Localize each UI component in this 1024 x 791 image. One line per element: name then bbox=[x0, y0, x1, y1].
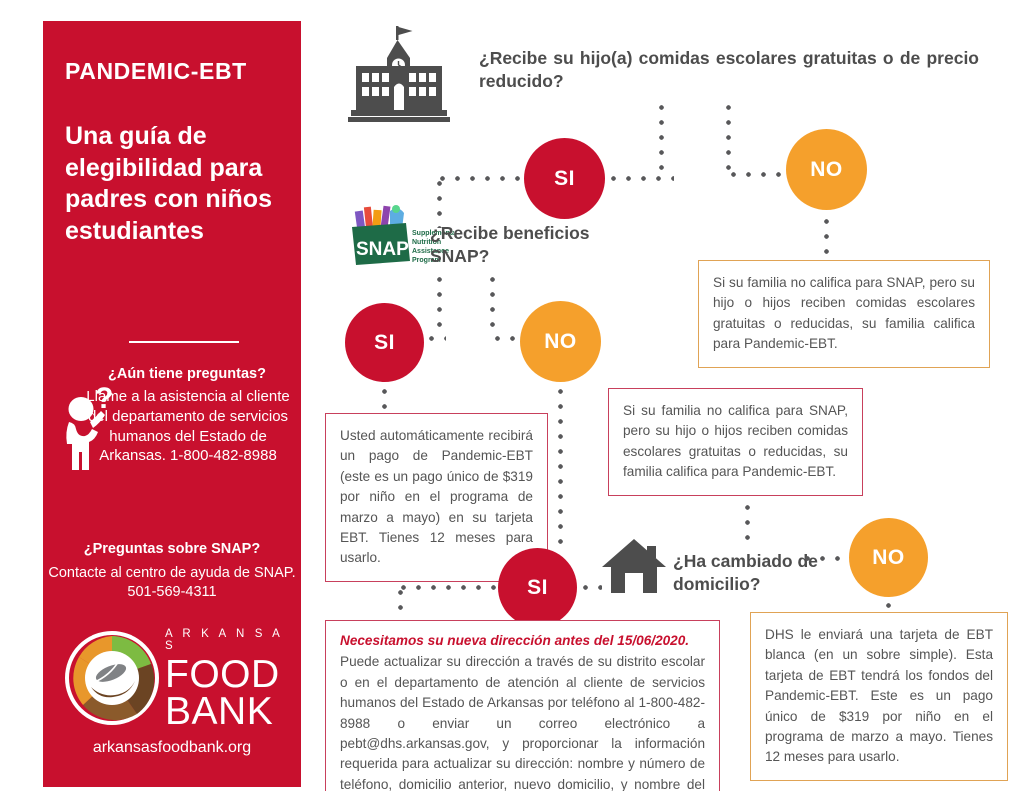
node-yes-question-1[interactable]: SI bbox=[524, 138, 605, 219]
connector-q2-right-down bbox=[490, 272, 495, 334]
node-no-question-1[interactable]: NO bbox=[786, 129, 867, 210]
question-2-text: ¿Recibe beneficios SNAP? bbox=[430, 222, 610, 268]
question-1-text: ¿Recibe su hijo(a) comidas escolares gra… bbox=[479, 47, 979, 93]
sidebar: PANDEMIC-EBT Una guía de elegibilidad pa… bbox=[43, 21, 301, 787]
school-building-icon bbox=[348, 24, 450, 124]
connector-yes2-to-box3 bbox=[382, 384, 387, 412]
connector-no3-to-box5 bbox=[886, 598, 891, 612]
questions-block: ? ¿Aún tiene preguntas? Llame a la asist… bbox=[43, 366, 301, 466]
arkansas-food-bank-logo: A R K A N S A S FOOD BANK bbox=[65, 621, 287, 741]
info-box-no-snap-qualifies-1: Si su familia no califica para SNAP, per… bbox=[698, 260, 990, 368]
node-yes-question-3[interactable]: SI bbox=[498, 548, 577, 627]
logo-food-text: FOOD bbox=[165, 656, 289, 693]
website-url[interactable]: arkansasfoodbank.org bbox=[43, 739, 301, 757]
node-no-question-2[interactable]: NO bbox=[520, 301, 601, 382]
connector-yes3-left-down bbox=[398, 585, 403, 619]
logo-bank-text: BANK bbox=[165, 693, 289, 730]
node-no-question-3[interactable]: NO bbox=[849, 518, 928, 597]
connector-to-yes2 bbox=[424, 336, 446, 341]
connector-q2-left-down bbox=[437, 272, 442, 334]
food-bank-wordmark: A R K A N S A S FOOD BANK bbox=[165, 629, 289, 731]
info-box-dhs-card: DHS le enviará una tarjeta de EBT blanca… bbox=[750, 612, 1008, 781]
infographic-page: PANDEMIC-EBT Una guía de elegibilidad pa… bbox=[0, 0, 1024, 791]
snap-questions-block: ¿Preguntas sobre SNAP? Contacte al centr… bbox=[43, 541, 301, 602]
connector-to-yes3 bbox=[396, 585, 500, 590]
page-subtitle: Una guía de elegibilidad para padres con… bbox=[65, 121, 280, 247]
svg-text:?: ? bbox=[95, 382, 113, 415]
page-title: PANDEMIC-EBT bbox=[65, 58, 295, 85]
node-yes-question-2[interactable]: SI bbox=[345, 303, 424, 382]
info-box-address-change: Necesitamos su nueva dirección antes del… bbox=[325, 620, 720, 791]
connector-to-no2 bbox=[490, 336, 524, 341]
logo-arkansas-text: A R K A N S A S bbox=[165, 629, 289, 652]
connector-mid-vertical-a bbox=[659, 100, 664, 178]
address-instructions-text: Puede actualizar su dirección a través d… bbox=[340, 654, 705, 791]
house-icon bbox=[600, 537, 668, 595]
snap-questions-heading: ¿Preguntas sobre SNAP? bbox=[43, 541, 301, 557]
connector-q3-to-no3 bbox=[800, 556, 850, 561]
person-with-question-icon: ? bbox=[59, 382, 121, 474]
divider bbox=[129, 341, 239, 343]
address-deadline-text: Necesitamos su nueva dirección antes del… bbox=[340, 631, 705, 651]
connector-no2-to-box2 bbox=[558, 384, 563, 544]
connector-no1-to-box1 bbox=[824, 214, 829, 258]
connector-yes3-to-house bbox=[578, 585, 602, 590]
connector-to-no1 bbox=[726, 172, 788, 177]
connector-box2-down bbox=[745, 500, 750, 542]
connector-q1-to-yes1 bbox=[435, 176, 523, 181]
questions-heading: ¿Aún tiene preguntas? bbox=[43, 366, 301, 382]
snap-questions-body: Contacte al centro de ayuda de SNAP. 501… bbox=[43, 564, 301, 602]
food-bank-circle-icon bbox=[65, 631, 159, 725]
svg-text:SNAP: SNAP bbox=[356, 239, 409, 260]
info-box-no-snap-qualifies-2: Si su familia no califica para SNAP, per… bbox=[608, 388, 863, 496]
connector-mid-vertical-b bbox=[726, 100, 731, 178]
